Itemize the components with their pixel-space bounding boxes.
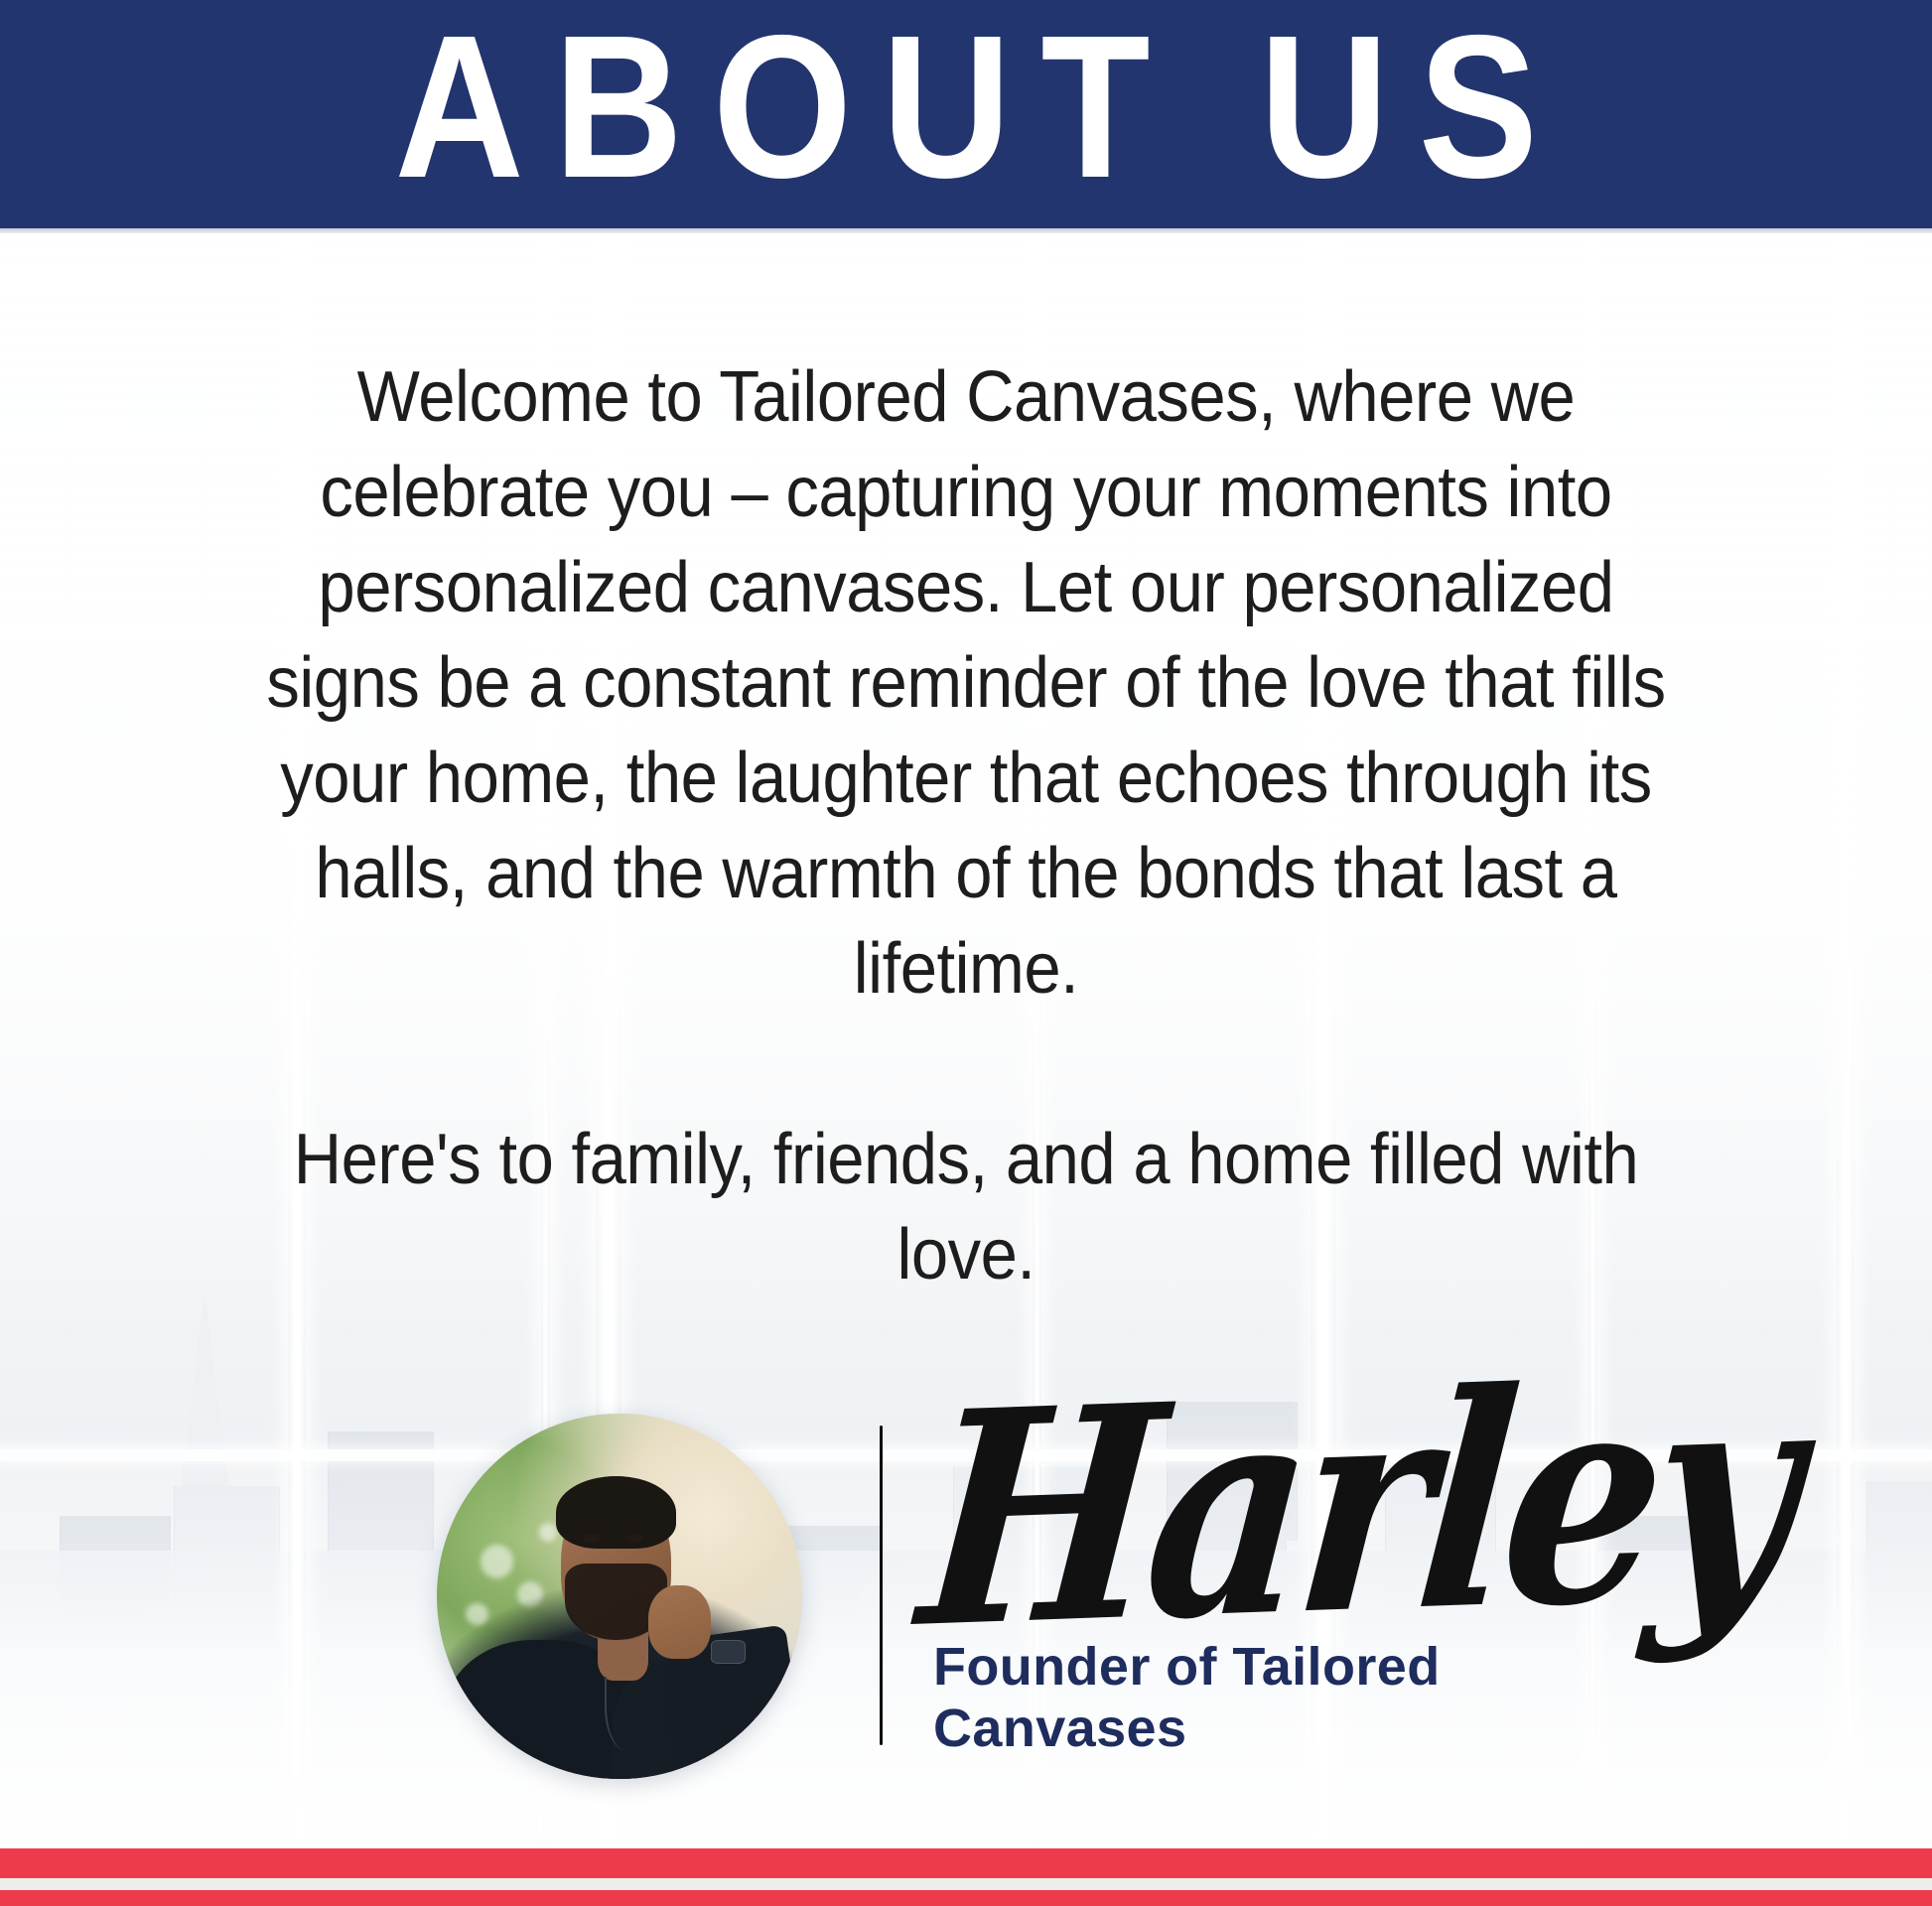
about-us-header-band: ABOUT US (0, 0, 1932, 228)
header-underline (0, 228, 1932, 233)
paragraph-intro: Welcome to Tailored Canvases, where we c… (243, 349, 1689, 1017)
avatar-hand (648, 1585, 711, 1659)
avatar (437, 1414, 802, 1779)
founder-title-line-1: Founder of Tailored (933, 1636, 1549, 1698)
founder-title-line-2: Canvases (933, 1698, 1549, 1759)
paragraph-closing: Here's to family, friends, and a home fi… (243, 1112, 1689, 1302)
footer-bar-top (0, 1848, 1932, 1878)
about-us-graphic: ABOUT US Welcome to Tailored Canvases, w… (0, 0, 1932, 1906)
avatar-watch (711, 1640, 746, 1664)
paragraph-spacer (189, 1017, 1743, 1112)
about-us-body-copy: Welcome to Tailored Canvases, where we c… (189, 349, 1743, 1302)
footer-bar-bottom (0, 1890, 1932, 1906)
footer-bar-gap (0, 1878, 1932, 1890)
page-title: ABOUT US (364, 8, 1567, 206)
avatar-hair (556, 1476, 676, 1550)
founder-title: Founder of Tailored Canvases (933, 1636, 1549, 1759)
